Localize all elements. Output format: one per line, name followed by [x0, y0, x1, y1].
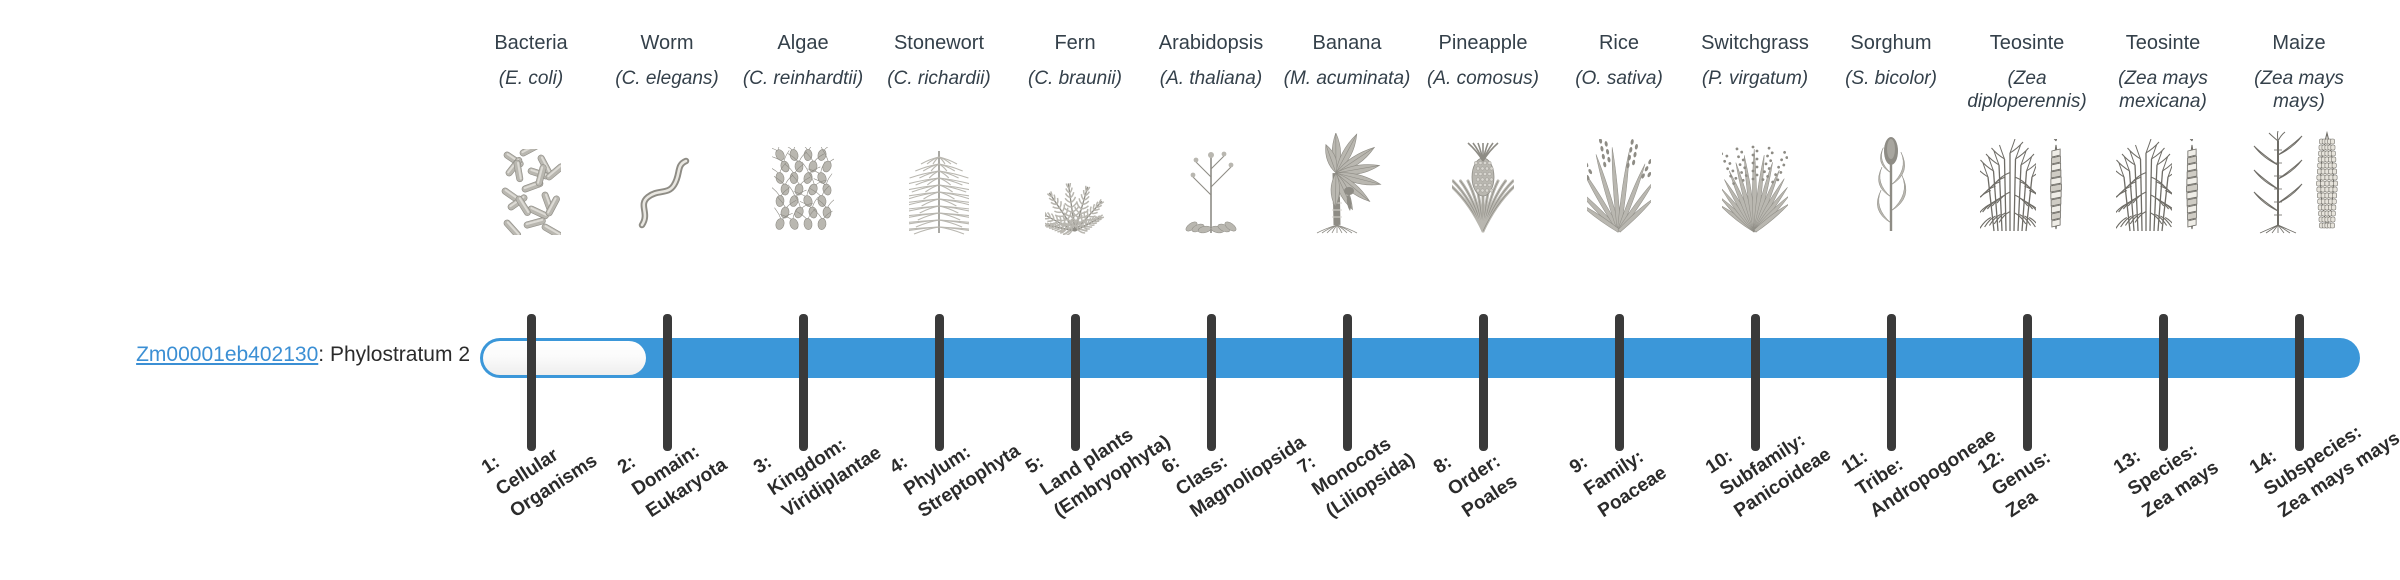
- teosinte-plant-ear-icon: [1959, 135, 2095, 235]
- species-common-name: Maize: [2231, 30, 2367, 58]
- species-common-name: Teosinte: [2095, 30, 2231, 58]
- rank-label-11: 11: Tribe: Andropogoneae: [1823, 455, 1959, 580]
- maize-plant-cob-icon: [2231, 135, 2367, 235]
- species-common-name: Stonewort: [871, 30, 1007, 58]
- species-latin-name: (A. thaliana): [1143, 67, 1279, 117]
- species-latin-name: (C. richardii): [871, 67, 1007, 117]
- species-column-switchgrass-10: Switchgrass(P. virgatum): [1687, 30, 1823, 320]
- teosinte-plant-ear-icon: [2095, 135, 2231, 235]
- species-column-stonewort-4: Stonewort(C. richardii): [871, 30, 1007, 320]
- stonewort-alga-icon: [871, 135, 1007, 235]
- gene-phylostratum-label: Zm00001eb402130: Phylostratum 2: [30, 343, 470, 367]
- rank-label-1: 1: Cellular Organisms: [463, 455, 599, 580]
- algae-cells-icon: [735, 135, 871, 235]
- species-common-name: Bacteria: [463, 30, 599, 58]
- species-common-name: Algae: [735, 30, 871, 58]
- rank-label-6: 6: Class: Magnoliopsida: [1143, 455, 1279, 580]
- fern-frond-icon: [1007, 135, 1143, 235]
- banana-palm-icon: [1279, 135, 1415, 235]
- pineapple-plant-icon: [1415, 135, 1551, 235]
- species-column-sorghum-11: Sorghum(S. bicolor): [1823, 30, 1959, 320]
- species-common-name: Switchgrass: [1687, 30, 1823, 58]
- rank-label-2: 2: Domain: Eukaryota: [599, 455, 735, 580]
- gene-accession-link[interactable]: Zm00001eb402130: [136, 343, 318, 366]
- rank-label-group: 1: Cellular Organisms2: Domain: Eukaryot…: [463, 455, 2363, 580]
- species-column-teosinte-13: Teosinte(Zea mays mexicana): [2095, 30, 2231, 320]
- species-column-bacteria-1: Bacteria(E. coli): [463, 30, 599, 320]
- rank-label-8: 8: Order: Poales: [1415, 455, 1551, 580]
- phylostratigraphy-figure: Zm00001eb402130: Phylostratum 2 Bacteria…: [0, 0, 2400, 580]
- species-latin-name: (M. acuminata): [1279, 67, 1415, 117]
- species-latin-name: (S. bicolor): [1823, 67, 1959, 117]
- species-column-rice-9: Rice(O. sativa): [1551, 30, 1687, 320]
- species-common-name: Worm: [599, 30, 735, 58]
- species-latin-name: (Zea mays mays): [2231, 67, 2367, 117]
- species-latin-name: (C. reinhardtii): [735, 67, 871, 117]
- species-latin-name: (O. sativa): [1551, 67, 1687, 117]
- rank-label-9: 9: Family: Poaceae: [1551, 455, 1687, 580]
- nematode-worm-icon: [599, 135, 735, 235]
- species-column-banana-7: Banana(M. acuminata): [1279, 30, 1415, 320]
- species-common-name: Pineapple: [1415, 30, 1551, 58]
- rice-grass-icon: [1551, 135, 1687, 235]
- species-latin-name: (C. braunii): [1007, 67, 1143, 117]
- species-common-name: Fern: [1007, 30, 1143, 58]
- species-column-fern-5: Fern(C. braunii): [1007, 30, 1143, 320]
- species-common-name: Sorghum: [1823, 30, 1959, 58]
- species-column-pineapple-8: Pineapple(A. comosus): [1415, 30, 1551, 320]
- species-common-name: Arabidopsis: [1143, 30, 1279, 58]
- species-common-name: Banana: [1279, 30, 1415, 58]
- rank-label-14: 14: Subspecies: Zea mays mays: [2231, 455, 2367, 580]
- label-separator: :: [318, 343, 330, 366]
- rank-label-13: 13: Species: Zea mays: [2095, 455, 2231, 580]
- species-latin-name: (A. comosus): [1415, 67, 1551, 117]
- species-column-maize-14: Maize(Zea mays mays): [2231, 30, 2367, 320]
- rank-label-5: 5: Land plants (Embryophyta): [1007, 455, 1143, 580]
- rank-label-3: 3: Kingdom: Viridiplantae: [735, 455, 871, 580]
- rank-label-4: 4: Phylum: Streptophyta: [871, 455, 1007, 580]
- species-column-teosinte-12: Teosinte(Zea diploperennis): [1959, 30, 2095, 320]
- species-latin-name: (C. elegans): [599, 67, 735, 117]
- species-common-name: Rice: [1551, 30, 1687, 58]
- arabidopsis-plant-icon: [1143, 135, 1279, 235]
- species-column-worm-2: Worm(C. elegans): [599, 30, 735, 320]
- species-column-arabidopsis-6: Arabidopsis(A. thaliana): [1143, 30, 1279, 320]
- species-column-group: Bacteria(E. coli)Worm(C. elegans)Algae(C…: [463, 30, 2363, 320]
- switchgrass-clump-icon: [1687, 135, 1823, 235]
- rank-label-12: 12: Genus: Zea: [1959, 455, 2095, 580]
- species-latin-name: (E. coli): [463, 67, 599, 117]
- rank-label-10: 10: Subfamily: Panicoideae: [1687, 455, 1823, 580]
- species-latin-name: (Zea mays mexicana): [2095, 67, 2231, 117]
- phylostratum-value: Phylostratum 2: [330, 343, 470, 366]
- bacteria-rods-icon: [463, 135, 599, 235]
- species-column-algae-3: Algae(C. reinhardtii): [735, 30, 871, 320]
- species-latin-name: (P. virgatum): [1687, 67, 1823, 117]
- species-common-name: Teosinte: [1959, 30, 2095, 58]
- species-latin-name: (Zea diploperennis): [1959, 67, 2095, 117]
- sorghum-plant-icon: [1823, 135, 1959, 235]
- rank-label-7: 7: Monocots (Liliopsida): [1279, 455, 1415, 580]
